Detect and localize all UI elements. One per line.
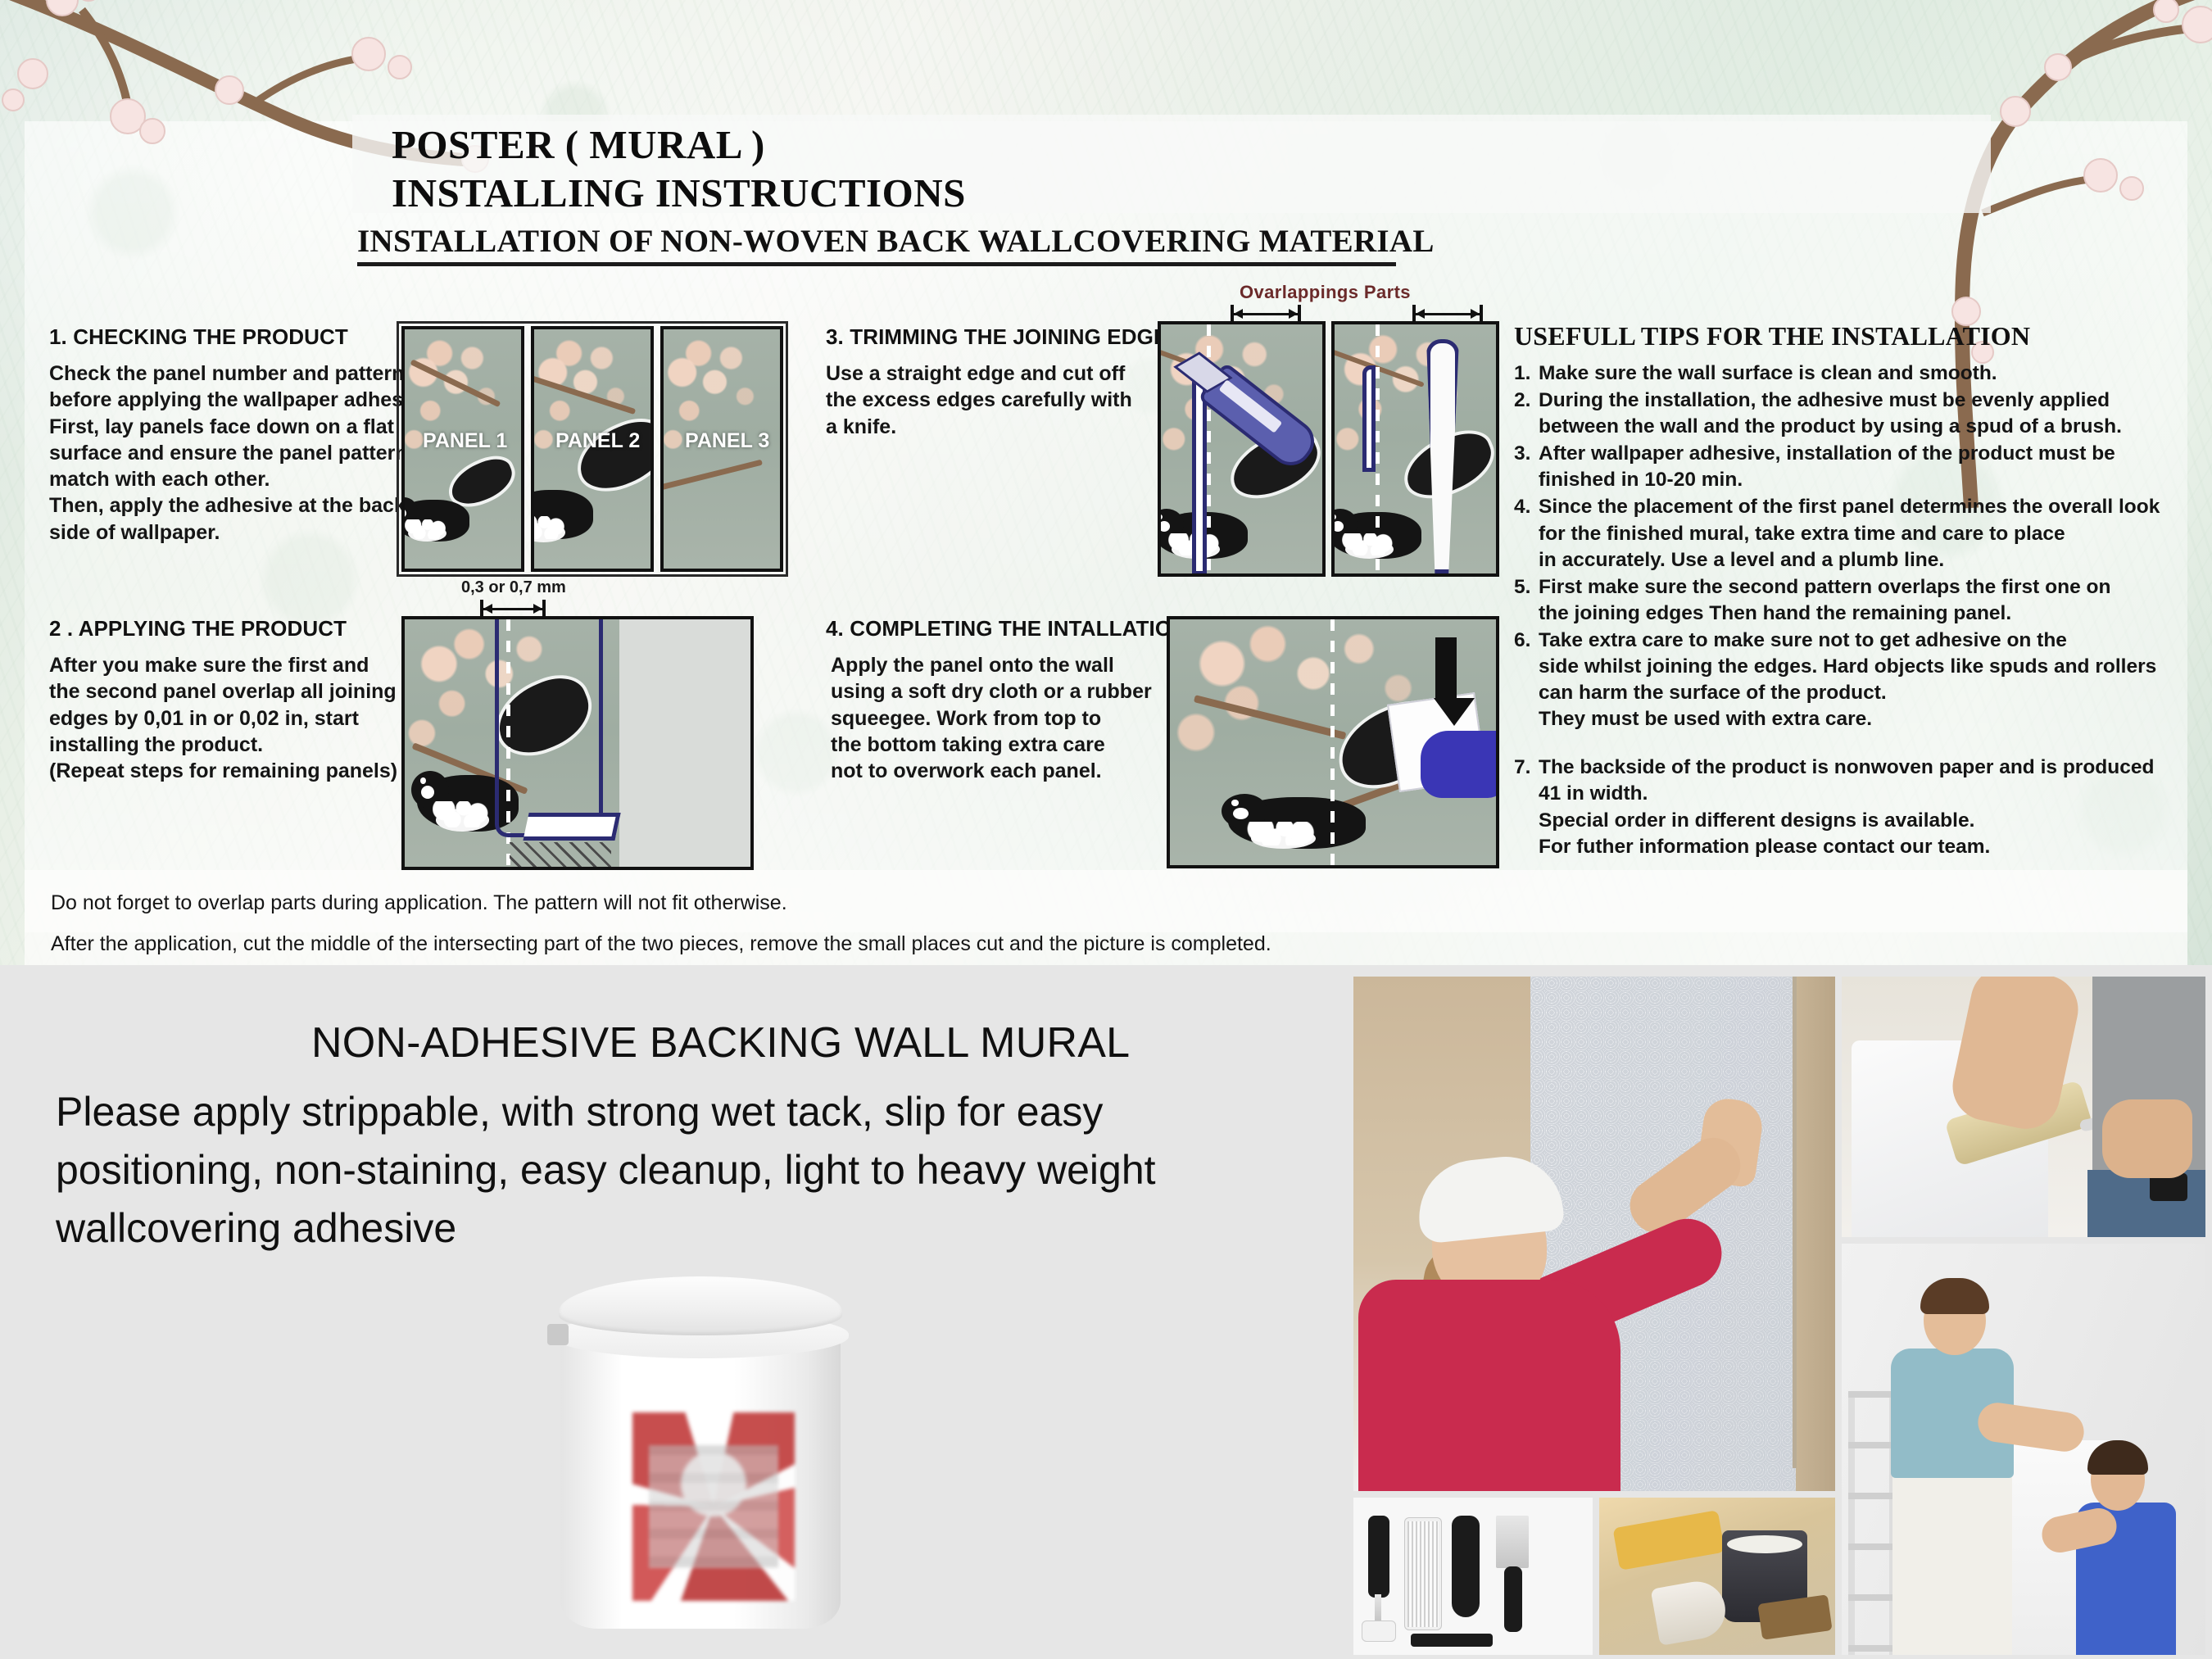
seam-roller-stem xyxy=(1375,1594,1381,1622)
overlap-dimension-arrow-right xyxy=(1412,305,1483,323)
step-3-heading: 3. TRIMMING THE JOINING EDGES xyxy=(826,324,1182,350)
adhesive-bucket-photo xyxy=(541,1276,860,1645)
footnote-2: After the application, cut the middle of… xyxy=(51,932,1271,956)
tip-item: 3.After wallpaper adhesive, installation… xyxy=(1514,441,2194,493)
bird-motif xyxy=(1331,431,1494,577)
bottom-title: NON-ADHESIVE BACKING WALL MURAL xyxy=(311,1018,1130,1067)
tip-item: 7.The backside of the product is nonwove… xyxy=(1514,755,2194,859)
scraper-blade xyxy=(1496,1516,1529,1568)
tip-item: 2.During the installation, the adhesive … xyxy=(1514,388,2194,440)
utility-knife-icon xyxy=(1411,1634,1493,1647)
photo-collage xyxy=(1353,977,2205,1655)
overlap-edge-outline xyxy=(495,616,603,837)
step-3-illustration-cutting xyxy=(1158,321,1326,577)
step-3-illustration-straightedge xyxy=(1331,321,1499,577)
blank-panel-area xyxy=(619,619,750,867)
gloved-hand-icon xyxy=(1421,731,1499,798)
seam-roller-wheel xyxy=(1362,1620,1396,1642)
gap-dimension-arrow xyxy=(480,600,546,618)
installation-instructions-poster: POSTER ( MURAL ) INSTALLING INSTRUCTIONS… xyxy=(0,0,2212,965)
step-2-heading: 2 . APPLYING THE PRODUCT xyxy=(49,616,347,641)
overlapping-parts-label: Ovarlappings Parts xyxy=(1240,282,1411,303)
plastic-smoother-icon xyxy=(1452,1516,1480,1617)
straight-edge-tool xyxy=(1362,365,1376,472)
photo-woman-applying-wallpaper xyxy=(1353,977,1835,1491)
step-2-body: After you make sure the first and the se… xyxy=(49,652,397,784)
step-2-illustration xyxy=(401,616,754,870)
step-4-body: Apply the panel onto the wall using a so… xyxy=(831,652,1152,784)
photo-paste-and-tools xyxy=(1599,1498,1835,1655)
panel-label-3: PANEL 3 xyxy=(685,429,769,453)
poster-subtitle-group: INSTALLATION OF NON-WOVEN BACK WALLCOVER… xyxy=(357,223,1414,266)
bottom-paragraph: Please apply strippable, with strong wet… xyxy=(56,1083,1334,1258)
panel-2-illustration: PANEL 2 xyxy=(531,326,654,572)
panel-3-illustration: PANEL 3 xyxy=(660,326,783,572)
panel-label-2: PANEL 2 xyxy=(555,429,640,453)
photo-two-people-hanging-wallpaper xyxy=(1842,1244,2205,1655)
poster-title-line1: POSTER ( MURAL ) xyxy=(392,121,765,168)
tip-item: 5.First make sure the second pattern ove… xyxy=(1514,574,2194,627)
cut-line-dashes xyxy=(1376,324,1380,577)
scraper-handle xyxy=(1504,1566,1522,1632)
panel-1-illustration: PANEL 1 xyxy=(401,326,524,572)
tips-heading: USEFULL TIPS FOR THE INSTALLATION xyxy=(1514,321,2030,351)
seam-roller-handle-icon xyxy=(1368,1516,1389,1598)
step-1-heading: 1. CHECKING THE PRODUCT xyxy=(49,324,348,350)
gap-dimension-label: 0,3 or 0,7 mm xyxy=(461,578,566,597)
step-3-body: Use a straight edge and cut off the exce… xyxy=(826,360,1132,440)
tip-item: 4.Since the placement of the first panel… xyxy=(1514,494,2194,573)
step-4-heading: 4. COMPLETING THE INTALLATION xyxy=(826,616,1187,641)
panel-label-1: PANEL 1 xyxy=(423,429,507,453)
poster-subtitle: INSTALLATION OF NON-WOVEN BACK WALLCOVER… xyxy=(357,223,1414,260)
footnote-1: Do not forget to overlap parts during ap… xyxy=(51,891,787,915)
subtitle-underline xyxy=(357,262,1396,266)
tip-item: 1.Make sure the wall surface is clean an… xyxy=(1514,360,2194,387)
photo-wallpaper-tool-set xyxy=(1353,1498,1593,1655)
tips-spacer xyxy=(1514,733,2194,755)
photo-applying-adhesive-roller xyxy=(1842,977,2205,1237)
hatched-overlap-zone xyxy=(510,842,611,870)
tips-list: 1.Make sure the wall surface is clean an… xyxy=(1514,360,2194,861)
poster-title-line2: INSTALLING INSTRUCTIONS xyxy=(392,170,966,216)
step-4-illustration xyxy=(1167,616,1499,868)
press-down-arrow-icon xyxy=(1434,637,1458,726)
folded-edge xyxy=(523,813,620,841)
smoothing-brush-icon xyxy=(1404,1517,1442,1630)
overlap-dimension-arrow-left xyxy=(1231,305,1301,323)
cut-line-dashes xyxy=(1330,619,1335,868)
step-1-body: Check the panel number and pattern befor… xyxy=(49,360,437,546)
tip-item: 6.Take extra care to make sure not to ge… xyxy=(1514,628,2194,732)
